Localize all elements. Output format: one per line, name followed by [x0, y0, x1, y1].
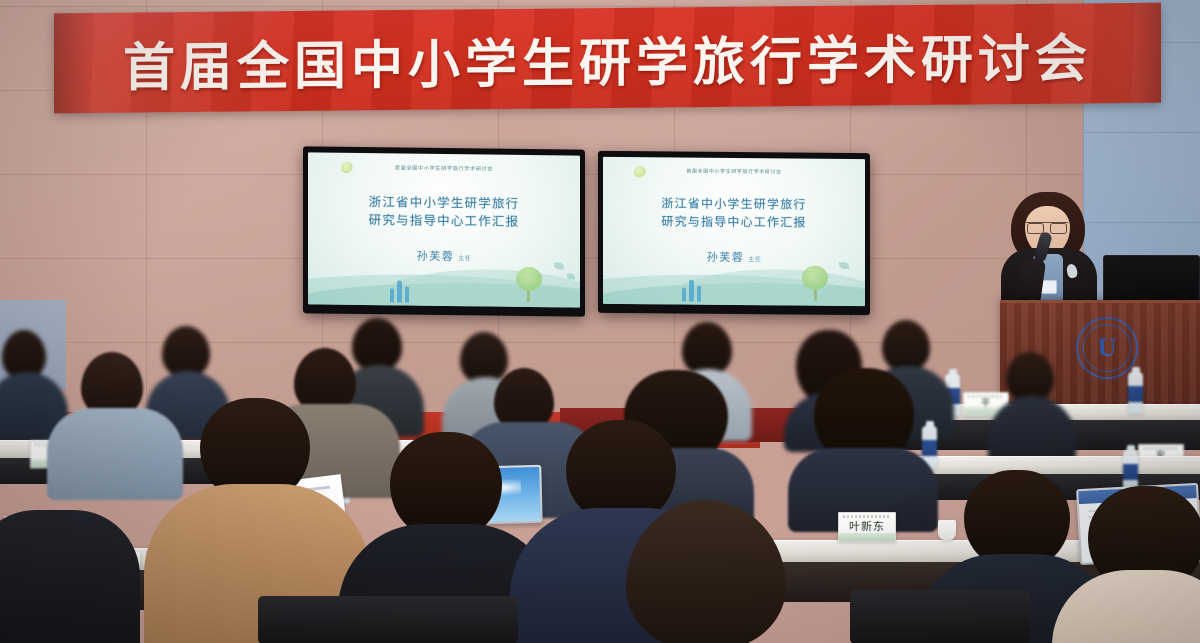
right-screen-slide: 首届全国中小学生研学旅行学术研讨会 浙江省中小学生研学旅行 研究与指导中心工作汇… [603, 157, 865, 306]
banner-title: 首届全国中小学生研学旅行学术研讨会 [123, 16, 1092, 100]
right-screen[interactable]: 首届全国中小学生研学旅行学术研讨会 浙江省中小学生研学旅行 研究与指导中心工作汇… [598, 151, 870, 315]
tree-crown-2 [802, 266, 828, 290]
figure-adult-2 [689, 280, 694, 302]
attendee-head [682, 322, 732, 376]
attendee-hair [390, 432, 502, 536]
attendee-foreground-nearest [596, 500, 816, 643]
slide-title-line1-2: 浙江省中小学生研学旅行 [603, 195, 865, 215]
tree-trunk-2 [814, 290, 817, 301]
slide-title-line2-2: 研究与指导中心工作汇报 [603, 212, 865, 232]
attendee-foreground [0, 470, 120, 643]
figure-adult [397, 280, 402, 302]
attendee-hair [964, 470, 1070, 566]
slide-tree-icon-2 [802, 266, 828, 301]
placard-header-line [843, 515, 891, 518]
attendee-foreground [1058, 492, 1200, 643]
slide-leaf-3 [839, 262, 849, 269]
banner-fold-left [54, 13, 88, 113]
conference-photo: 首届全国中小学生研学旅行学术研讨会 首届全国中小学生研学旅行学术研讨会 浙江省中… [0, 0, 1200, 643]
placard-name-text: 叶新东 [849, 518, 885, 534]
water-bottle [1128, 372, 1143, 414]
slide-title-block-2: 浙江省中小学生研学旅行 研究与指导中心工作汇报 [603, 195, 865, 232]
banner-fold-right [1127, 3, 1161, 103]
chair-back [258, 596, 518, 643]
left-screen[interactable]: 首届全国中小学生研学旅行学术研讨会 浙江省中小学生研学旅行 研究与指导中心工作汇… [303, 146, 585, 316]
figure-child-right [405, 286, 409, 302]
speaker-presenter [995, 192, 1105, 312]
figure-child-left [390, 288, 394, 302]
university-seal-icon: U [1076, 317, 1138, 379]
slide-family-figures-2 [682, 280, 701, 302]
attendee-hair [200, 398, 310, 498]
left-screen-slide: 首届全国中小学生研学旅行学术研讨会 浙江省中小学生研学旅行 研究与指导中心工作汇… [308, 152, 580, 307]
slide-illustration-2 [603, 254, 865, 306]
slide-leaf-2 [567, 273, 575, 279]
figure-child-left-2 [682, 288, 686, 302]
attendee-head [1006, 352, 1054, 402]
event-banner: 首届全国中小学生研学旅行学术研讨会 [54, 3, 1161, 114]
chair-back [850, 590, 1030, 643]
placard-header-line [1143, 447, 1179, 450]
attendee-head [626, 500, 786, 643]
slide-family-figures [390, 280, 409, 302]
slide-illustration [308, 253, 580, 308]
slide-tree-icon [516, 267, 542, 302]
attendee-knit-sweater [1052, 570, 1200, 643]
glasses-icon [1026, 222, 1068, 232]
attendee [0, 330, 62, 440]
attendee-head [882, 320, 930, 372]
slide-title-block: 浙江省中小学生研学旅行 研究与指导中心工作汇报 [308, 192, 580, 232]
tree-crown [516, 267, 542, 291]
slide-leaf-1 [554, 262, 564, 269]
tree-trunk [527, 291, 530, 302]
attendee [800, 368, 926, 518]
figure-child-right-2 [697, 286, 701, 302]
slide-title-line2: 研究与指导中心工作汇报 [308, 210, 580, 231]
name-placard-ye-xindong: 叶新东 [838, 512, 896, 542]
attendee [992, 352, 1070, 460]
seal-letter: U [1098, 335, 1117, 361]
attendee-jacket [0, 510, 140, 643]
